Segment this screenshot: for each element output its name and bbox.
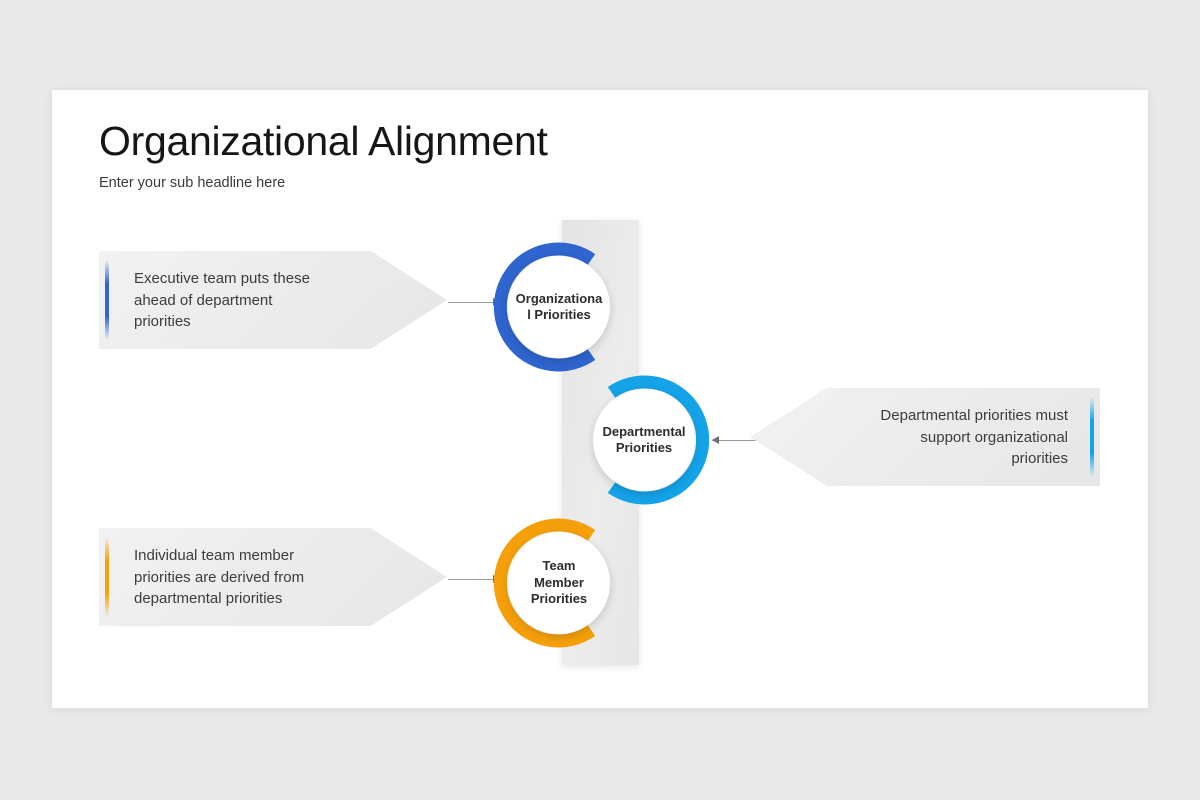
- node-label: Departmental Priorities: [598, 424, 689, 457]
- node-disc: Organizationa l Priorities: [508, 256, 610, 358]
- callout-individual-team-member[interactable]: Individual team member priorities are de…: [99, 528, 447, 626]
- slide-card: Organizational Alignment Enter your sub …: [52, 90, 1148, 708]
- callout-text: Departmental priorities must support org…: [830, 405, 1068, 470]
- page-subtitle: Enter your sub headline here: [99, 175, 285, 191]
- node-organizational-priorities[interactable]: Organizationa l Priorities: [494, 242, 624, 372]
- screenshot-canvas: Organizational Alignment Enter your sub …: [0, 0, 1200, 800]
- page-title: Organizational Alignment: [99, 118, 548, 165]
- node-disc: Departmental Priorities: [593, 389, 695, 491]
- connector-exec-to-organizational: [448, 296, 500, 308]
- callout-executive-team[interactable]: Executive team puts these ahead of depar…: [99, 251, 447, 349]
- callout-text: Executive team puts these ahead of depar…: [134, 268, 367, 333]
- callout-accent-bar: [1090, 397, 1094, 477]
- node-label: Team Member Priorities: [527, 558, 591, 608]
- arrowhead-left-icon: [712, 436, 719, 444]
- node-departmental-priorities[interactable]: Departmental Priorities: [579, 375, 709, 505]
- connector-individual-to-team: [448, 573, 500, 585]
- callout-departmental-support[interactable]: Departmental priorities must support org…: [750, 388, 1100, 486]
- callout-accent-bar: [105, 537, 109, 617]
- callout-text: Individual team member priorities are de…: [134, 545, 367, 610]
- node-label: Organizationa l Priorities: [512, 291, 607, 324]
- node-team-member-priorities[interactable]: Team Member Priorities: [494, 518, 624, 648]
- callout-accent-bar: [105, 260, 109, 340]
- node-disc: Team Member Priorities: [508, 532, 610, 634]
